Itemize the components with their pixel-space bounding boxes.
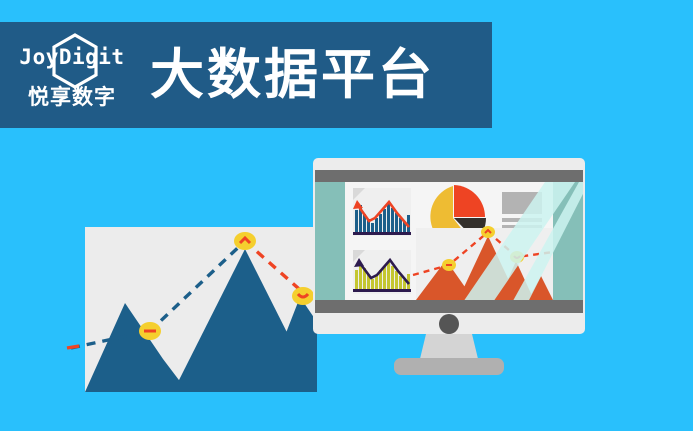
poster-canvas: JoyDigit 悦享数字 大数据平台 — [0, 0, 693, 431]
olive-card-baseline — [353, 289, 411, 292]
brand-chinese-name: 悦享数字 — [12, 87, 132, 108]
monitor-screen — [315, 182, 585, 308]
page-title: 大数据平台 — [150, 48, 435, 102]
brand-logo: JoyDigit 悦享数字 — [12, 29, 132, 121]
monitor-bottom-bar — [315, 300, 583, 313]
desktop-monitor — [313, 158, 585, 390]
blue-card-baseline — [353, 232, 411, 235]
mountain-silhouette — [85, 249, 317, 392]
camera-icon — [439, 314, 459, 334]
header-banner: JoyDigit 悦享数字 大数据平台 — [0, 22, 492, 128]
monitor-base — [394, 358, 504, 375]
blue-mountain-panel — [85, 227, 317, 392]
olive-bar-chart-card — [353, 250, 411, 294]
monitor-top-bar — [315, 170, 583, 182]
blue-bar-chart-card — [353, 188, 411, 236]
brand-latin-name: JoyDigit — [12, 47, 132, 68]
